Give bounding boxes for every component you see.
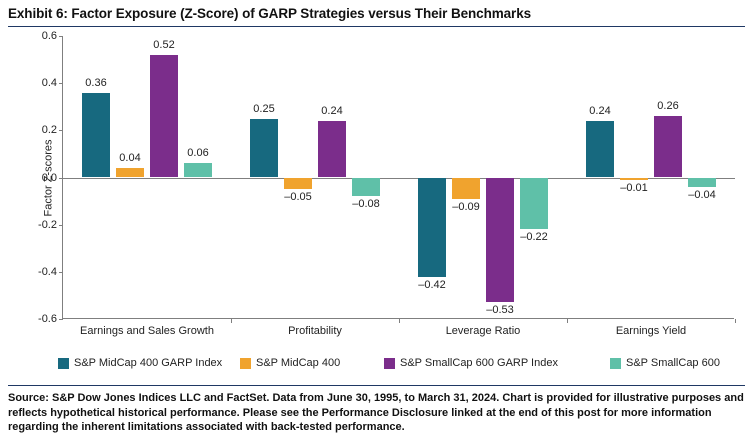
bar-group: –0.42–0.09–0.53–0.22 — [399, 36, 567, 319]
bar[interactable] — [418, 178, 446, 277]
bar[interactable] — [352, 178, 380, 197]
x-axis-tick-mark — [735, 319, 736, 323]
bar[interactable] — [452, 178, 480, 199]
y-axis-tick-label: 0.0 — [42, 172, 57, 184]
x-axis-tick-mark — [567, 319, 568, 323]
chart-page: Exhibit 6: Factor Exposure (Z-Score) of … — [0, 0, 753, 445]
legend-label: S&P MidCap 400 — [256, 357, 340, 369]
bar[interactable] — [654, 116, 682, 177]
bar[interactable] — [318, 121, 346, 178]
bar[interactable] — [284, 178, 312, 190]
bar-value-label: 0.24 — [302, 105, 362, 117]
bar-value-label: 0.36 — [66, 77, 126, 89]
bar[interactable] — [116, 168, 144, 177]
legend-item[interactable]: S&P SmallCap 600 — [610, 355, 720, 371]
bar-value-label: 0.25 — [234, 103, 294, 115]
bar[interactable] — [586, 121, 614, 178]
bar[interactable] — [184, 163, 212, 177]
y-axis-tick-label: -0.6 — [38, 313, 57, 325]
y-axis-tick-label: 0.4 — [42, 77, 57, 89]
bar[interactable] — [520, 178, 548, 230]
bar-value-label: 0.06 — [168, 147, 228, 159]
plot-canvas: -0.6-0.4-0.20.00.20.40.60.360.040.520.06… — [62, 36, 734, 319]
x-axis-tick-label: Earnings Yield — [541, 325, 753, 337]
chart-legend: S&P MidCap 400 GARP IndexS&P MidCap 400S… — [58, 355, 748, 371]
legend-item[interactable]: S&P MidCap 400 GARP Index — [58, 355, 222, 371]
bar-value-label: –0.42 — [402, 279, 462, 291]
plot-area: Factor Z-scores -0.6-0.4-0.20.00.20.40.6… — [62, 36, 734, 319]
bar-value-label: –0.01 — [604, 182, 664, 194]
legend-swatch — [58, 358, 69, 369]
bar-group: 0.25–0.050.24–0.08 — [231, 36, 399, 319]
bar[interactable] — [688, 178, 716, 187]
bar-value-label: –0.04 — [672, 189, 732, 201]
y-axis-tick-label: 0.6 — [42, 30, 57, 42]
legend-label: S&P SmallCap 600 GARP Index — [400, 357, 558, 369]
bar-value-label: –0.08 — [336, 198, 396, 210]
bar-value-label: –0.22 — [504, 231, 564, 243]
legend-swatch — [240, 358, 251, 369]
bar-value-label: 0.26 — [638, 100, 698, 112]
page-title: Exhibit 6: Factor Exposure (Z-Score) of … — [8, 6, 531, 21]
legend-item[interactable]: S&P MidCap 400 — [240, 355, 340, 371]
y-axis-tick-mark — [59, 319, 63, 320]
legend-label: S&P SmallCap 600 — [626, 357, 720, 369]
bar-group: 0.24–0.010.26–0.04 — [567, 36, 735, 319]
legend-swatch — [384, 358, 395, 369]
bar-value-label: –0.53 — [470, 304, 530, 316]
title-divider — [8, 26, 745, 27]
x-axis-tick-mark — [231, 319, 232, 323]
footnote: Source: S&P Dow Jones Indices LLC and Fa… — [8, 391, 748, 435]
y-axis-tick-label: -0.4 — [38, 266, 57, 278]
bar-value-label: –0.05 — [268, 191, 328, 203]
bar-group: 0.360.040.520.06 — [63, 36, 231, 319]
bar[interactable] — [82, 93, 110, 178]
y-axis-tick-label: 0.2 — [42, 124, 57, 136]
legend-item[interactable]: S&P SmallCap 600 GARP Index — [384, 355, 558, 371]
bar[interactable] — [250, 119, 278, 178]
footnote-divider — [8, 385, 745, 386]
legend-swatch — [610, 358, 621, 369]
bar-value-label: 0.52 — [134, 39, 194, 51]
bar[interactable] — [620, 178, 648, 180]
legend-label: S&P MidCap 400 GARP Index — [74, 357, 222, 369]
bar-value-label: 0.24 — [570, 105, 630, 117]
x-axis-tick-mark — [399, 319, 400, 323]
y-axis-tick-label: -0.2 — [38, 219, 57, 231]
